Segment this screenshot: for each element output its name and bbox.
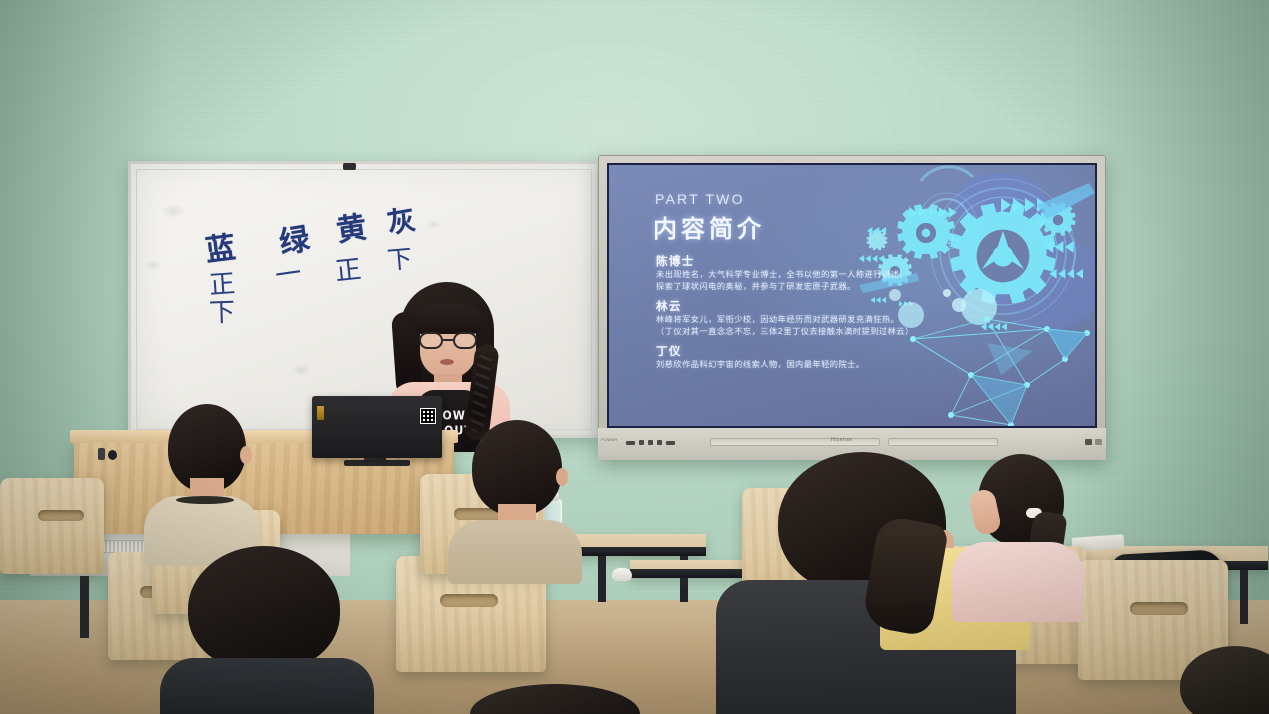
monitor-sticker xyxy=(317,406,324,420)
classroom-scene: 蓝 正 下 绿 一 黄 正 灰 下 xyxy=(0,0,1269,714)
presenter-glasses xyxy=(418,332,478,349)
vga-port-icon[interactable] xyxy=(666,441,675,445)
student-left-beige xyxy=(144,404,260,564)
student-hair xyxy=(470,684,640,714)
slide-line-2a: 林峰将军女儿，军衔少校，因幼年经历而对武器研发充满狂热。 xyxy=(656,314,920,326)
menu-button[interactable] xyxy=(1085,439,1092,445)
slide-heading-2: 林云 xyxy=(656,298,920,314)
presenter-monitor[interactable] xyxy=(312,396,442,458)
student-center-dark xyxy=(176,546,356,714)
glasses-lens-left xyxy=(419,332,443,349)
slide-kicker: PART TWO xyxy=(655,191,745,207)
chair-handle xyxy=(1130,602,1188,615)
smartboard-screen[interactable]: PART TWO 内容简介 陈博士 未出现姓名，大气科学专业博士，全书以他的第一… xyxy=(607,163,1097,428)
slide-body: 陈博士 未出现姓名，大气科学专业博士，全书以他的第一人称进行讲述。 探索了球状闪… xyxy=(656,253,920,371)
computer-mouse[interactable] xyxy=(612,568,632,581)
power-button[interactable] xyxy=(1095,439,1102,445)
chair-handle xyxy=(38,510,84,521)
presenter-fringe xyxy=(414,304,482,334)
student-mid-tan xyxy=(452,420,578,578)
glasses-lens-right xyxy=(453,332,477,349)
student-ear xyxy=(240,446,252,464)
glasses-bridge xyxy=(443,339,453,341)
whiteboard-clip xyxy=(343,163,356,170)
whiteboard-tally-green-1: 一 xyxy=(273,252,304,292)
slide-line-3a: 刘慈欣作品科幻宇宙的线索人物，国内最年轻的院士。 xyxy=(656,359,920,371)
chair[interactable] xyxy=(0,478,104,574)
smartboard-vent-mid xyxy=(888,438,998,446)
slide-heading-3: 丁仪 xyxy=(656,343,920,359)
slide-line-2b: （丁仪对其一直念念不忘，三体2里丁仪去接触水滴时提到过林云） xyxy=(656,326,920,338)
student-shirt xyxy=(160,658,374,714)
student-hair xyxy=(1180,646,1269,714)
student-shirt xyxy=(448,520,582,584)
usb-port-icon[interactable] xyxy=(626,441,635,445)
whiteboard-tally-gray-1: 下 xyxy=(385,239,413,277)
smartboard-ports[interactable] xyxy=(626,440,675,445)
student-hair xyxy=(472,420,562,516)
presenter-mouth xyxy=(440,359,454,365)
slide-line-1a: 未出现姓名，大气科学专业博士，全书以他的第一人称进行讲述。 xyxy=(656,269,920,281)
lectern-leg-left xyxy=(80,576,89,638)
smartboard-brand-label: Hisense xyxy=(831,437,853,443)
aux-port-icon[interactable] xyxy=(657,440,662,445)
student-hair xyxy=(188,546,340,672)
whiteboard-smudge xyxy=(291,364,311,376)
desk-leg xyxy=(1240,570,1248,624)
student-necklace xyxy=(176,496,234,504)
slide-heading-1: 陈博士 xyxy=(656,253,920,269)
slide-title: 内容简介 xyxy=(653,209,765,244)
whiteboard-tally-blue-2: 下 xyxy=(208,292,235,330)
interactive-smartboard[interactable]: PART TWO 内容简介 陈博士 未出现姓名，大气科学专业博士，全书以他的第一… xyxy=(598,155,1106,460)
desk-leg xyxy=(598,556,606,602)
qr-code-sticker xyxy=(420,408,436,424)
whiteboard-smudge xyxy=(426,220,440,229)
student-far-right xyxy=(1180,646,1269,714)
monitor-foot xyxy=(344,460,410,466)
hdmi-port-icon[interactable] xyxy=(639,440,644,445)
chair-handle xyxy=(440,594,498,607)
audio-port-icon[interactable] xyxy=(648,440,653,445)
marker-pen[interactable] xyxy=(98,448,105,460)
student-ear xyxy=(556,468,568,486)
whiteboard-word-yellow: 黄 xyxy=(333,202,369,250)
slide-line-1b: 探索了球状闪电的奥秘，并参与了研发宏原子武器。 xyxy=(656,281,920,293)
smartboard-power-label: POWER xyxy=(601,437,618,442)
desk-edge xyxy=(630,569,760,578)
pen-cap xyxy=(108,450,117,460)
smartboard-side-buttons[interactable] xyxy=(1085,439,1102,445)
presentation-slide: PART TWO 内容简介 陈博士 未出现姓名，大气科学专业博士，全书以他的第一… xyxy=(609,165,1095,426)
whiteboard-smudge xyxy=(145,260,161,270)
student-ponytail-pink xyxy=(952,454,1084,624)
whiteboard-inner-frame xyxy=(136,169,592,430)
whiteboard-smudge xyxy=(161,204,187,218)
smartboard-vent-left xyxy=(710,438,880,446)
desk-row-mid2 xyxy=(630,560,760,578)
student-shirt xyxy=(952,542,1084,622)
student-bottom-partial xyxy=(470,684,640,714)
whiteboard-tally-yellow-1: 正 xyxy=(333,249,363,289)
